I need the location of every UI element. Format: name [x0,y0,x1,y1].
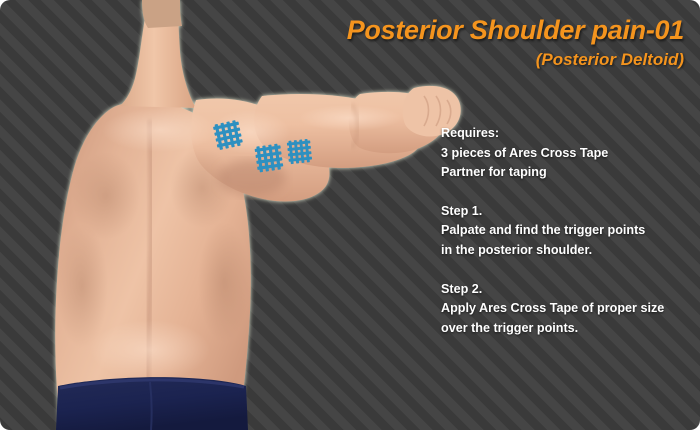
forearm [349,92,447,153]
instructions-panel: Requires: 3 pieces of Ares Cross Tape Pa… [441,124,691,338]
left-scapula-shadow [72,152,140,240]
trapezius-highlight [102,108,218,152]
left-lat-shadow [56,224,108,348]
lattice-grid [254,143,283,172]
requires-line-1: 3 pieces of Ares Cross Tape [441,144,691,164]
requires-line-2: Partner for taping [441,163,691,183]
spine-line [147,120,152,384]
instruction-card: Posterior Shoulder pain-01 (Posterior De… [0,0,700,430]
shorts [56,377,248,430]
step-2-line-2: over the trigger points. [441,319,691,339]
elbow-crease [352,104,358,148]
step-1-line-2: in the posterior shoulder. [441,241,691,261]
shorts-seam [150,382,152,430]
knuckle-lines [424,96,451,126]
requires-block: Requires: 3 pieces of Ares Cross Tape Pa… [441,124,691,183]
page-title: Posterior Shoulder pain-01 [347,17,684,44]
step-2-block: Step 2. Apply Ares Cross Tape of proper … [441,280,691,339]
title-block: Posterior Shoulder pain-01 (Posterior De… [347,17,684,68]
cross-tape-patch-1 [210,117,246,153]
requires-heading: Requires: [441,124,691,144]
hairline [142,0,182,28]
step-1-line-1: Palpate and find the trigger points [441,221,691,241]
cross-tape-patch-3 [285,137,315,167]
lower-back-highlight [90,320,210,380]
right-scapula-shadow [170,148,234,228]
page-subtitle: (Posterior Deltoid) [347,51,684,68]
step-2-line-1: Apply Ares Cross Tape of proper size [441,299,691,319]
step-2-heading: Step 2. [441,280,691,300]
right-lat-shadow [198,222,250,342]
neck [120,8,196,108]
step-1-block: Step 1. Palpate and find the trigger poi… [441,202,691,261]
shorts-waistband [60,380,244,388]
step-1-heading: Step 1. [441,202,691,222]
cross-tape-patch-2 [252,141,286,175]
lattice-grid [287,139,313,165]
lattice-grid [213,120,244,151]
arm-highlight [298,105,402,131]
